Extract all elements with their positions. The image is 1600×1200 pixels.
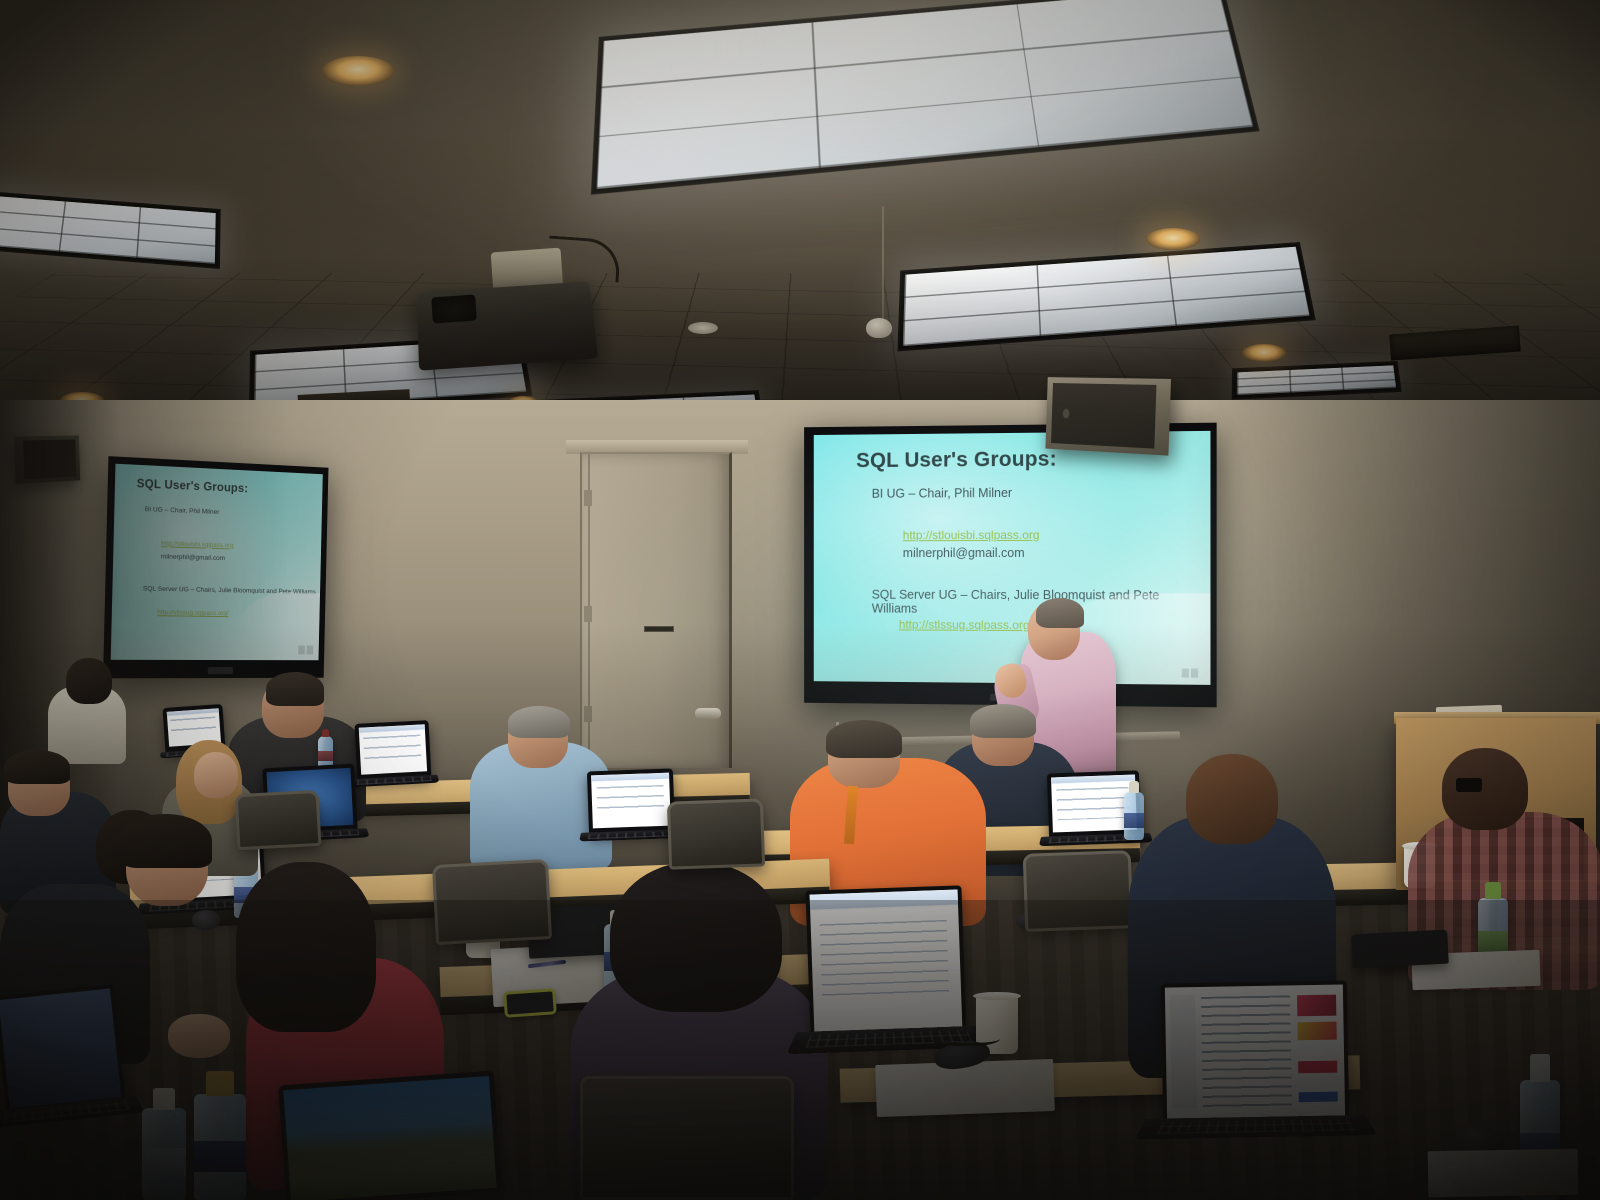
attendee-bald-navy-polo-head — [1186, 754, 1278, 844]
laptop-row3-center[interactable] — [587, 769, 675, 836]
laptop-row3-left[interactable] — [355, 720, 432, 782]
presenter-hair — [1036, 598, 1084, 628]
attendee-navy-sweater-hair — [970, 704, 1036, 738]
attendee-right-plaid-head — [1442, 748, 1528, 830]
chair[interactable] — [667, 798, 765, 869]
chair[interactable] — [235, 790, 322, 850]
eyeglasses-icon — [1456, 778, 1482, 792]
attendee-left-front-dark-hair — [4, 750, 70, 784]
attendee-woman-red-jacket-hair-top — [118, 814, 212, 868]
water-bottle[interactable] — [1124, 792, 1144, 840]
attendee-blue-plaid-shirt-hair — [508, 706, 570, 738]
attendee-orange-shirt-hair — [826, 720, 902, 758]
classroom-scene: SQL User's Groups: BI UG – Chair, Phil M… — [0, 0, 1600, 1200]
attendee-left-dark-jacket-hair — [266, 672, 324, 706]
attendee-left-blonde-woman-face — [194, 752, 238, 798]
attendee-back-left-white-shirt-head — [66, 658, 112, 704]
floor-shading — [0, 900, 1600, 1200]
